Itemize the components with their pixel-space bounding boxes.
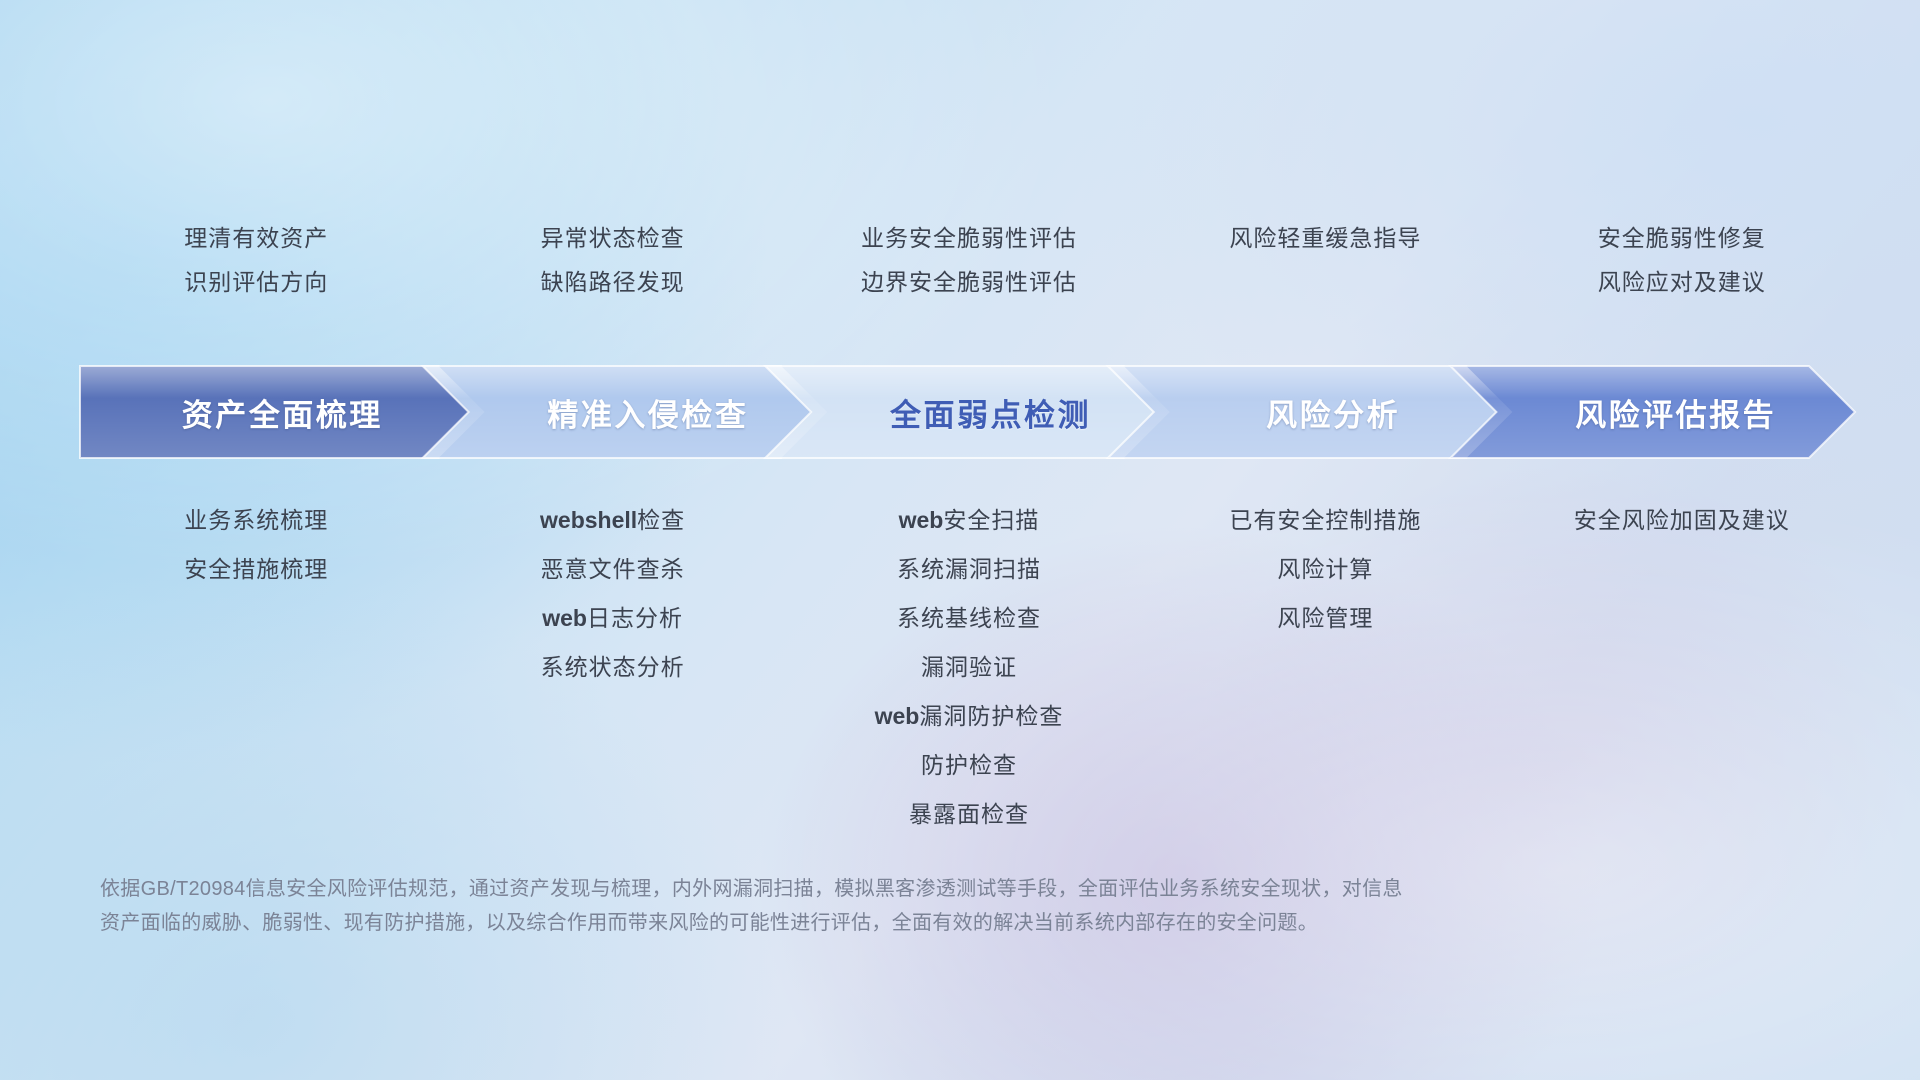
bottom-annotation-item: 风险管理 [1147, 594, 1503, 643]
bottom-annotation-item: web安全扫描 [791, 496, 1147, 545]
bottom-annotation-item: 恶意文件查杀 [434, 545, 790, 594]
cjk-token: 漏洞防护检查 [919, 703, 1063, 729]
cjk-token: 漏洞验证 [921, 654, 1017, 680]
bottom-annotation-group-5: 安全风险加固及建议 [1504, 496, 1860, 839]
bottom-annotation-group-3: web安全扫描系统漏洞扫描系统基线检查漏洞验证web漏洞防护检查防护检查暴露面检… [791, 496, 1147, 839]
arrow-gloss-asset-inventory [80, 366, 485, 458]
bottom-annotations: 业务系统梳理安全措施梳理 webshell检查恶意文件查杀web日志分析系统状态… [78, 496, 1860, 839]
top-annotation-item: 风险应对及建议 [1504, 260, 1860, 304]
bottom-annotation-item: 安全风险加固及建议 [1504, 496, 1860, 545]
bottom-annotation-item: 已有安全控制措施 [1147, 496, 1503, 545]
arrow-gloss-risk-analysis [1108, 366, 1513, 458]
cjk-token: 安全风险加固及建议 [1574, 507, 1790, 533]
bottom-annotation-item: web漏洞防护检查 [791, 692, 1147, 741]
top-annotation-item: 边界安全脆弱性评估 [791, 260, 1147, 304]
arrow-band-svg [80, 366, 1855, 458]
top-annotation-item: 识别评估方向 [78, 260, 434, 304]
top-annotation-group-5: 安全脆弱性修复风险应对及建议 [1504, 216, 1860, 326]
cjk-token: 系统漏洞扫描 [897, 556, 1041, 582]
top-annotation-group-1: 理清有效资产识别评估方向 [78, 216, 434, 326]
arrow-gloss-weakness-detection [765, 366, 1170, 458]
bottom-annotation-item: 漏洞验证 [791, 643, 1147, 692]
bottom-annotation-item: web日志分析 [434, 594, 790, 643]
top-annotation-item: 安全脆弱性修复 [1504, 216, 1860, 260]
cjk-token: 业务系统梳理 [184, 507, 328, 533]
bottom-annotation-group-1: 业务系统梳理安全措施梳理 [78, 496, 434, 839]
cjk-token: 日志分析 [587, 605, 683, 631]
top-annotation-item: 缺陷路径发现 [434, 260, 790, 304]
cjk-token: 暴露面检查 [909, 801, 1029, 827]
top-annotation-item: 理清有效资产 [78, 216, 434, 260]
bottom-annotation-item: 暴露面检查 [791, 790, 1147, 839]
top-annotation-item: 业务安全脆弱性评估 [791, 216, 1147, 260]
cjk-token: 系统状态分析 [541, 654, 685, 680]
bottom-annotation-item: 防护检查 [791, 741, 1147, 790]
top-annotations: 理清有效资产识别评估方向 异常状态检查缺陷路径发现 业务安全脆弱性评估边界安全脆… [78, 216, 1860, 326]
top-annotation-group-4: 风险轻重缓急指导 [1147, 216, 1503, 326]
bottom-annotation-item: 系统基线检查 [791, 594, 1147, 643]
cjk-token: 安全扫描 [943, 507, 1039, 533]
latin-token: web [542, 605, 587, 631]
bottom-annotation-group-2: webshell检查恶意文件查杀web日志分析系统状态分析 [434, 496, 790, 839]
top-annotation-item: 异常状态检查 [434, 216, 790, 260]
footer-line-1: 依据GB/T20984信息安全风险评估规范，通过资产发现与梳理，内外网漏洞扫描，… [100, 872, 1620, 906]
bottom-annotation-item: 系统状态分析 [434, 643, 790, 692]
arrow-gloss-risk-report [1450, 366, 1855, 458]
top-annotation-item: 风险轻重缓急指导 [1147, 216, 1503, 260]
cjk-token: 安全措施梳理 [184, 556, 328, 582]
bottom-annotation-group-4: 已有安全控制措施风险计算风险管理 [1147, 496, 1503, 839]
bottom-annotation-item: 安全措施梳理 [78, 545, 434, 594]
bottom-annotation-item: 业务系统梳理 [78, 496, 434, 545]
process-arrow-band [80, 366, 1855, 458]
bottom-annotation-item: 系统漏洞扫描 [791, 545, 1147, 594]
cjk-token: 检查 [637, 507, 685, 533]
bottom-annotation-item: 风险计算 [1147, 545, 1503, 594]
cjk-token: 系统基线检查 [897, 605, 1041, 631]
arrow-gloss-intrusion-check [423, 366, 828, 458]
cjk-token: 已有安全控制措施 [1229, 507, 1421, 533]
cjk-token: 风险管理 [1277, 605, 1373, 631]
slide-canvas: 理清有效资产识别评估方向 异常状态检查缺陷路径发现 业务安全脆弱性评估边界安全脆… [0, 0, 1920, 1080]
latin-token: webshell [540, 507, 637, 533]
cjk-token: 防护检查 [921, 752, 1017, 778]
top-annotation-group-3: 业务安全脆弱性评估边界安全脆弱性评估 [791, 216, 1147, 326]
cjk-token: 风险计算 [1277, 556, 1373, 582]
footer-description: 依据GB/T20984信息安全风险评估规范，通过资产发现与梳理，内外网漏洞扫描，… [100, 872, 1620, 940]
footer-line-2: 资产面临的威胁、脆弱性、现有防护措施，以及综合作用而带来风险的可能性进行评估，全… [100, 906, 1620, 940]
bottom-annotation-item: webshell检查 [434, 496, 790, 545]
cjk-token: 恶意文件查杀 [541, 556, 685, 582]
top-annotation-group-2: 异常状态检查缺陷路径发现 [434, 216, 790, 326]
latin-token: web [875, 703, 920, 729]
latin-token: web [899, 507, 944, 533]
